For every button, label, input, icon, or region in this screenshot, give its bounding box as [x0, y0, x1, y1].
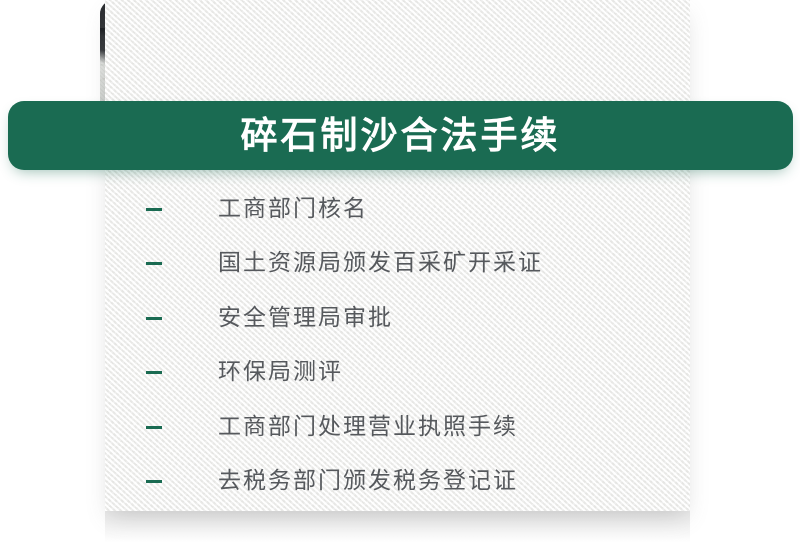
banner-title-text: 碎石制沙合法手续	[241, 117, 561, 154]
list-item-label: 去税务部门颁发税务登记证	[218, 470, 518, 493]
list-item-label: 国土资源局颁发百采矿开采证	[218, 252, 543, 275]
list-item: 去税务部门颁发税务登记证	[146, 455, 666, 510]
list-item-label: 工商部门处理营业执照手续	[218, 416, 518, 439]
steps-list: 工商部门核名 国土资源局颁发百采矿开采证 安全管理局审批 环保局测评 工商部门处…	[146, 182, 666, 509]
list-item: 安全管理局审批	[146, 291, 666, 346]
list-item: 工商部门处理营业执照手续	[146, 400, 666, 455]
title-banner: 碎石制沙合法手续	[8, 101, 793, 170]
poster-root: 碎石制沙合法手续 工商部门核名 国土资源局颁发百采矿开采证 安全管理局审批 环保…	[0, 0, 800, 544]
dash-icon	[146, 480, 162, 483]
list-item-label: 安全管理局审批	[218, 307, 393, 330]
dash-icon	[146, 262, 162, 265]
list-item-label: 环保局测评	[218, 361, 343, 384]
list-item: 环保局测评	[146, 346, 666, 401]
dash-icon	[146, 426, 162, 429]
dash-icon	[146, 371, 162, 374]
list-item: 国土资源局颁发百采矿开采证	[146, 237, 666, 292]
dash-icon	[146, 208, 162, 211]
list-item: 工商部门核名	[146, 182, 666, 237]
list-item-label: 工商部门核名	[218, 198, 368, 221]
dash-icon	[146, 317, 162, 320]
